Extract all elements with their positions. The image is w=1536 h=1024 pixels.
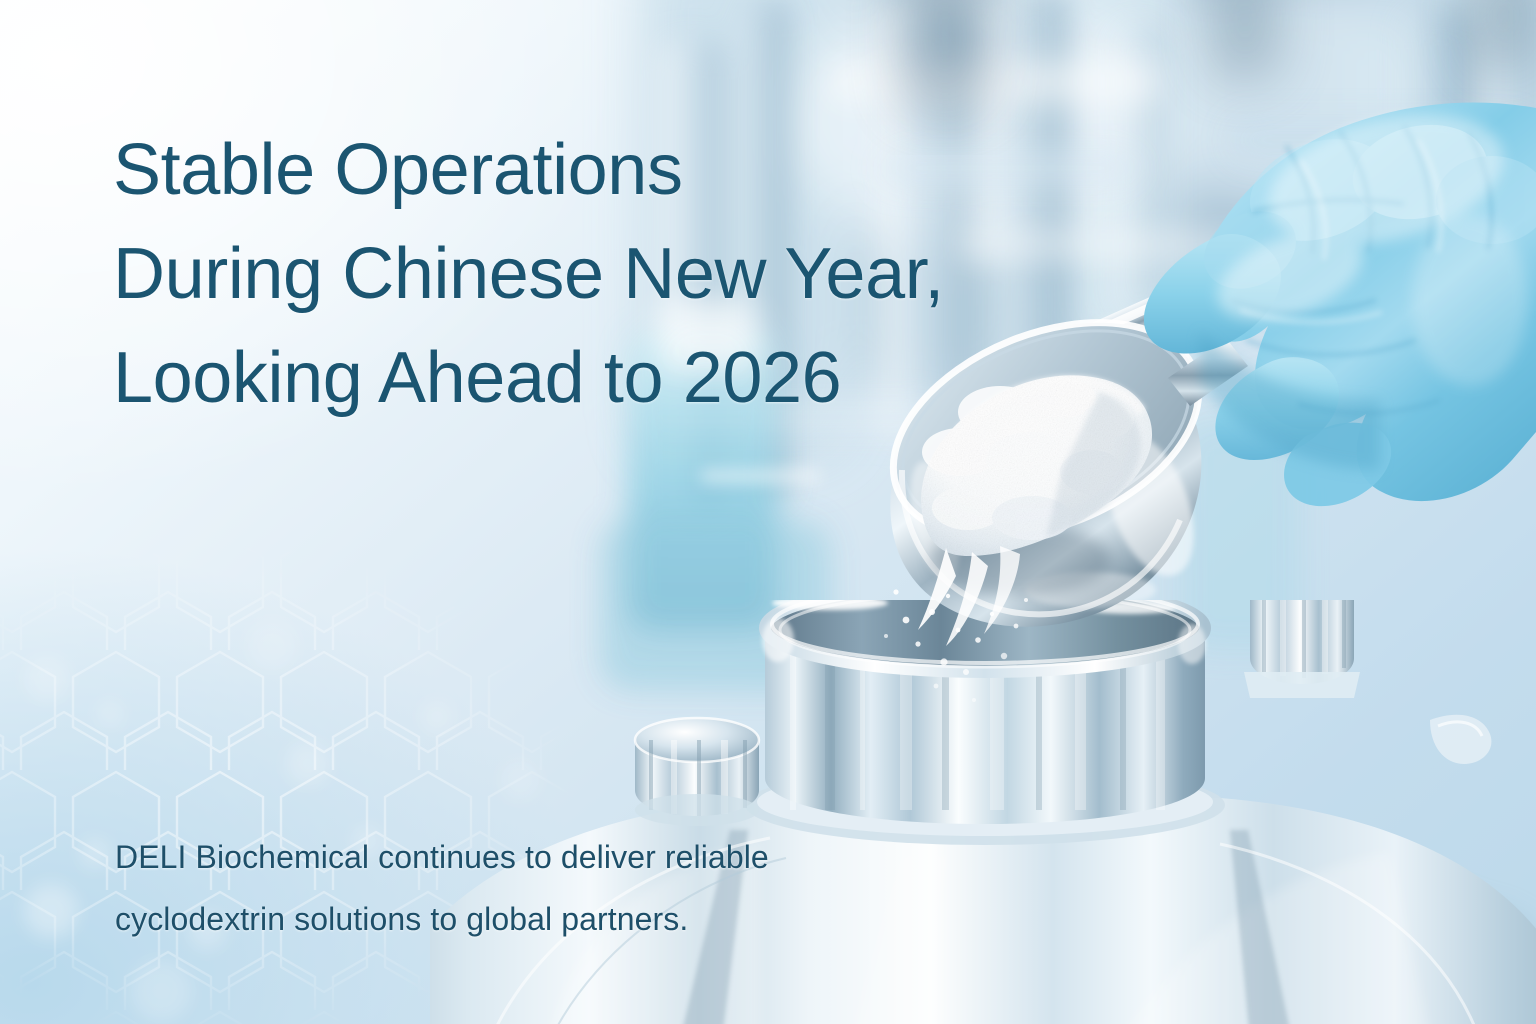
promo-banner: Stable Operations During Chinese New Yea… <box>0 0 1536 1024</box>
page-title: Stable Operations During Chinese New Yea… <box>113 118 944 430</box>
subtitle: DELI Biochemical continues to deliver re… <box>115 826 769 950</box>
